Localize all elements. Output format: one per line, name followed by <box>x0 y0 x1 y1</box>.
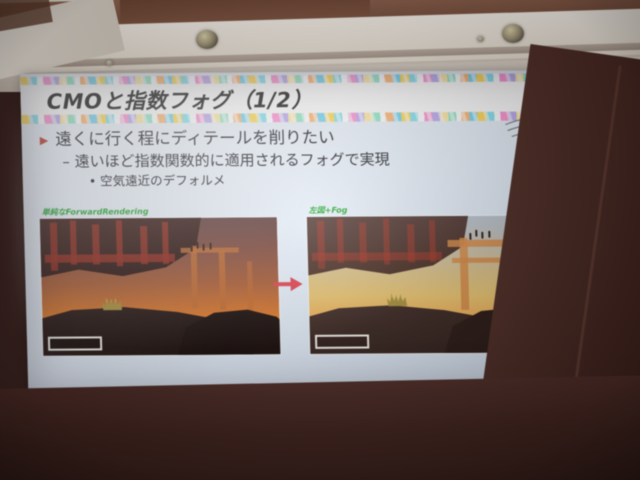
figure-left-caption: 単純なForwardRendering <box>41 206 148 218</box>
dot-bullet-icon: • <box>89 173 97 188</box>
birds-icon <box>190 242 216 252</box>
shrine-crossbeam <box>312 252 442 261</box>
photograph-of-projected-slide: CMOと指数フォグ（1/2） <box>0 0 640 480</box>
slide-body-text: ▶ 遠くに行く程にディテールを削りたい – 遠いほど指数関数的に適用されるフォグ… <box>35 126 587 189</box>
bullet-level-1: ▶ 遠くに行く程にディテールを削りたい <box>35 126 586 150</box>
downlight-icon <box>502 24 524 43</box>
bullet-level-1-text: 遠くに行く程にディテールを削りたい <box>55 128 335 150</box>
triangle-bullet-icon: ▶ <box>40 134 49 147</box>
hud-box <box>315 335 369 349</box>
birds-icon <box>469 230 495 240</box>
figure-left-image <box>39 216 282 357</box>
room-wall-bottom <box>0 375 640 480</box>
bullet-level-2-text: 遠いほど指数関数的に適用されるフォグで実現 <box>74 150 390 170</box>
bullet-level-2: – 遠いほど指数関数的に適用されるフォグで実現 <box>62 149 587 171</box>
page-title: CMOと指数フォグ（1/2） <box>46 83 313 115</box>
downlight-small-icon <box>477 36 484 42</box>
downlight-small-icon <box>106 60 113 66</box>
hud-box <box>48 336 102 350</box>
dash-bullet-icon: – <box>62 152 70 170</box>
transition-arrow-icon <box>273 276 303 292</box>
shrine-crossbeam <box>45 254 175 263</box>
shrine-beam <box>50 223 58 271</box>
figure-left: 単純なForwardRendering <box>39 216 282 357</box>
shrine-beam <box>317 221 325 269</box>
bullet-level-3-text: 空気遠近のデフォルメ <box>100 172 225 188</box>
downlight-icon <box>196 30 218 49</box>
figure-right-caption: 左図+Fog <box>309 205 348 216</box>
